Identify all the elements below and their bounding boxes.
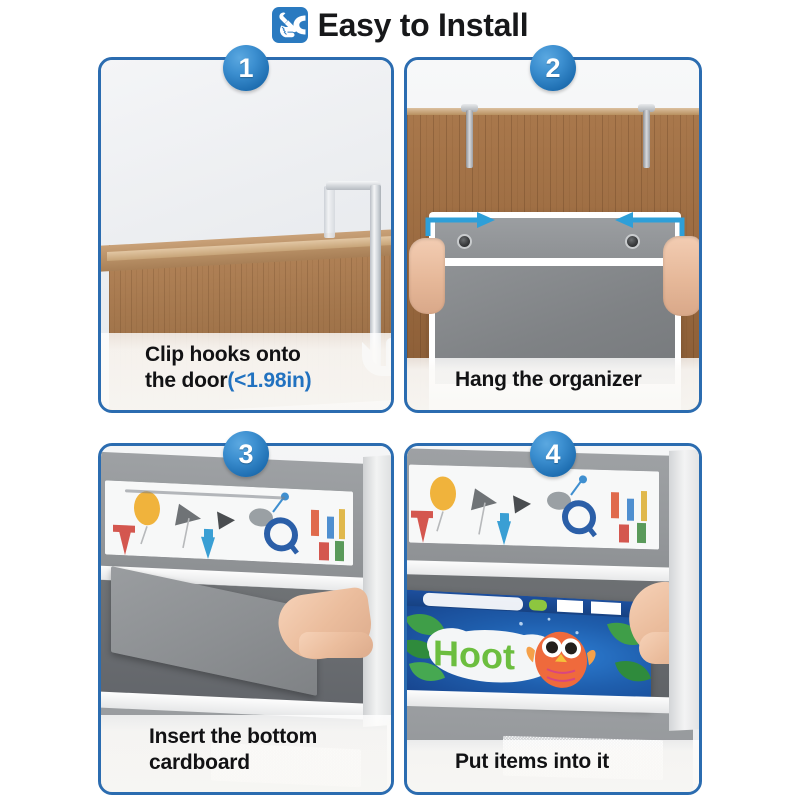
hand-fingers	[299, 632, 373, 658]
right-hand	[663, 236, 699, 316]
door-top-lip	[407, 108, 699, 115]
step-panel-3: Insert the bottom cardboard	[98, 443, 394, 795]
step-badge-4: 4	[530, 431, 576, 477]
step-badge-4-number: 4	[545, 441, 560, 468]
step-panel-1: Clip hooks onto the door(<1.98in)	[98, 57, 394, 413]
infographic-page: Easy to Install Clip hooks onto the	[0, 0, 800, 800]
step-badge-1: 1	[223, 45, 269, 91]
left-inward-arrow-icon	[425, 212, 495, 243]
step-1-caption: Clip hooks onto the door(<1.98in)	[101, 333, 391, 410]
mesh-pocket-contents	[105, 480, 353, 565]
caption-line-1: Put items into it	[455, 749, 699, 775]
hook-1-shaft	[466, 110, 473, 168]
box-title-text: Hoot	[433, 632, 515, 677]
step-3-caption: Insert the bottom cardboard	[101, 715, 391, 792]
right-inward-arrow-icon	[615, 212, 685, 243]
caption-line-1: Clip hooks onto	[145, 342, 391, 368]
step-panel-2: Hang the organizer	[404, 57, 702, 413]
page-title: Easy to Install	[318, 7, 529, 43]
caption-line-1: Insert the bottom	[149, 724, 391, 750]
caption-line-1: Hang the organizer	[455, 367, 699, 393]
caption-accent-text: (<1.98in)	[227, 369, 311, 392]
step-badge-2: 2	[530, 45, 576, 91]
step-badge-3: 3	[223, 431, 269, 477]
organizer-side-panel	[669, 449, 699, 731]
left-hand	[409, 238, 445, 314]
step-badge-2-number: 2	[545, 55, 560, 82]
step-badge-3-number: 3	[238, 441, 253, 468]
caption-line-2: cardboard	[149, 750, 391, 776]
hook-2-shaft	[643, 110, 650, 168]
step-4-caption: Put items into it	[407, 740, 699, 792]
mesh-window-upper	[409, 465, 659, 550]
step-badge-1-number: 1	[238, 55, 253, 82]
header: Easy to Install	[0, 2, 800, 48]
mesh-window-upper	[105, 480, 353, 565]
caption-line-2: the door(<1.98in)	[145, 368, 391, 394]
organizer-side-panel	[363, 455, 391, 727]
mesh-pocket-contents	[409, 465, 659, 550]
step-2-caption: Hang the organizer	[407, 358, 699, 410]
caption-line-2-text: the door	[145, 369, 227, 392]
step-panel-4: Hoot	[404, 443, 702, 795]
wrench-hand-icon	[272, 7, 308, 43]
hook-short-leg	[324, 186, 335, 238]
